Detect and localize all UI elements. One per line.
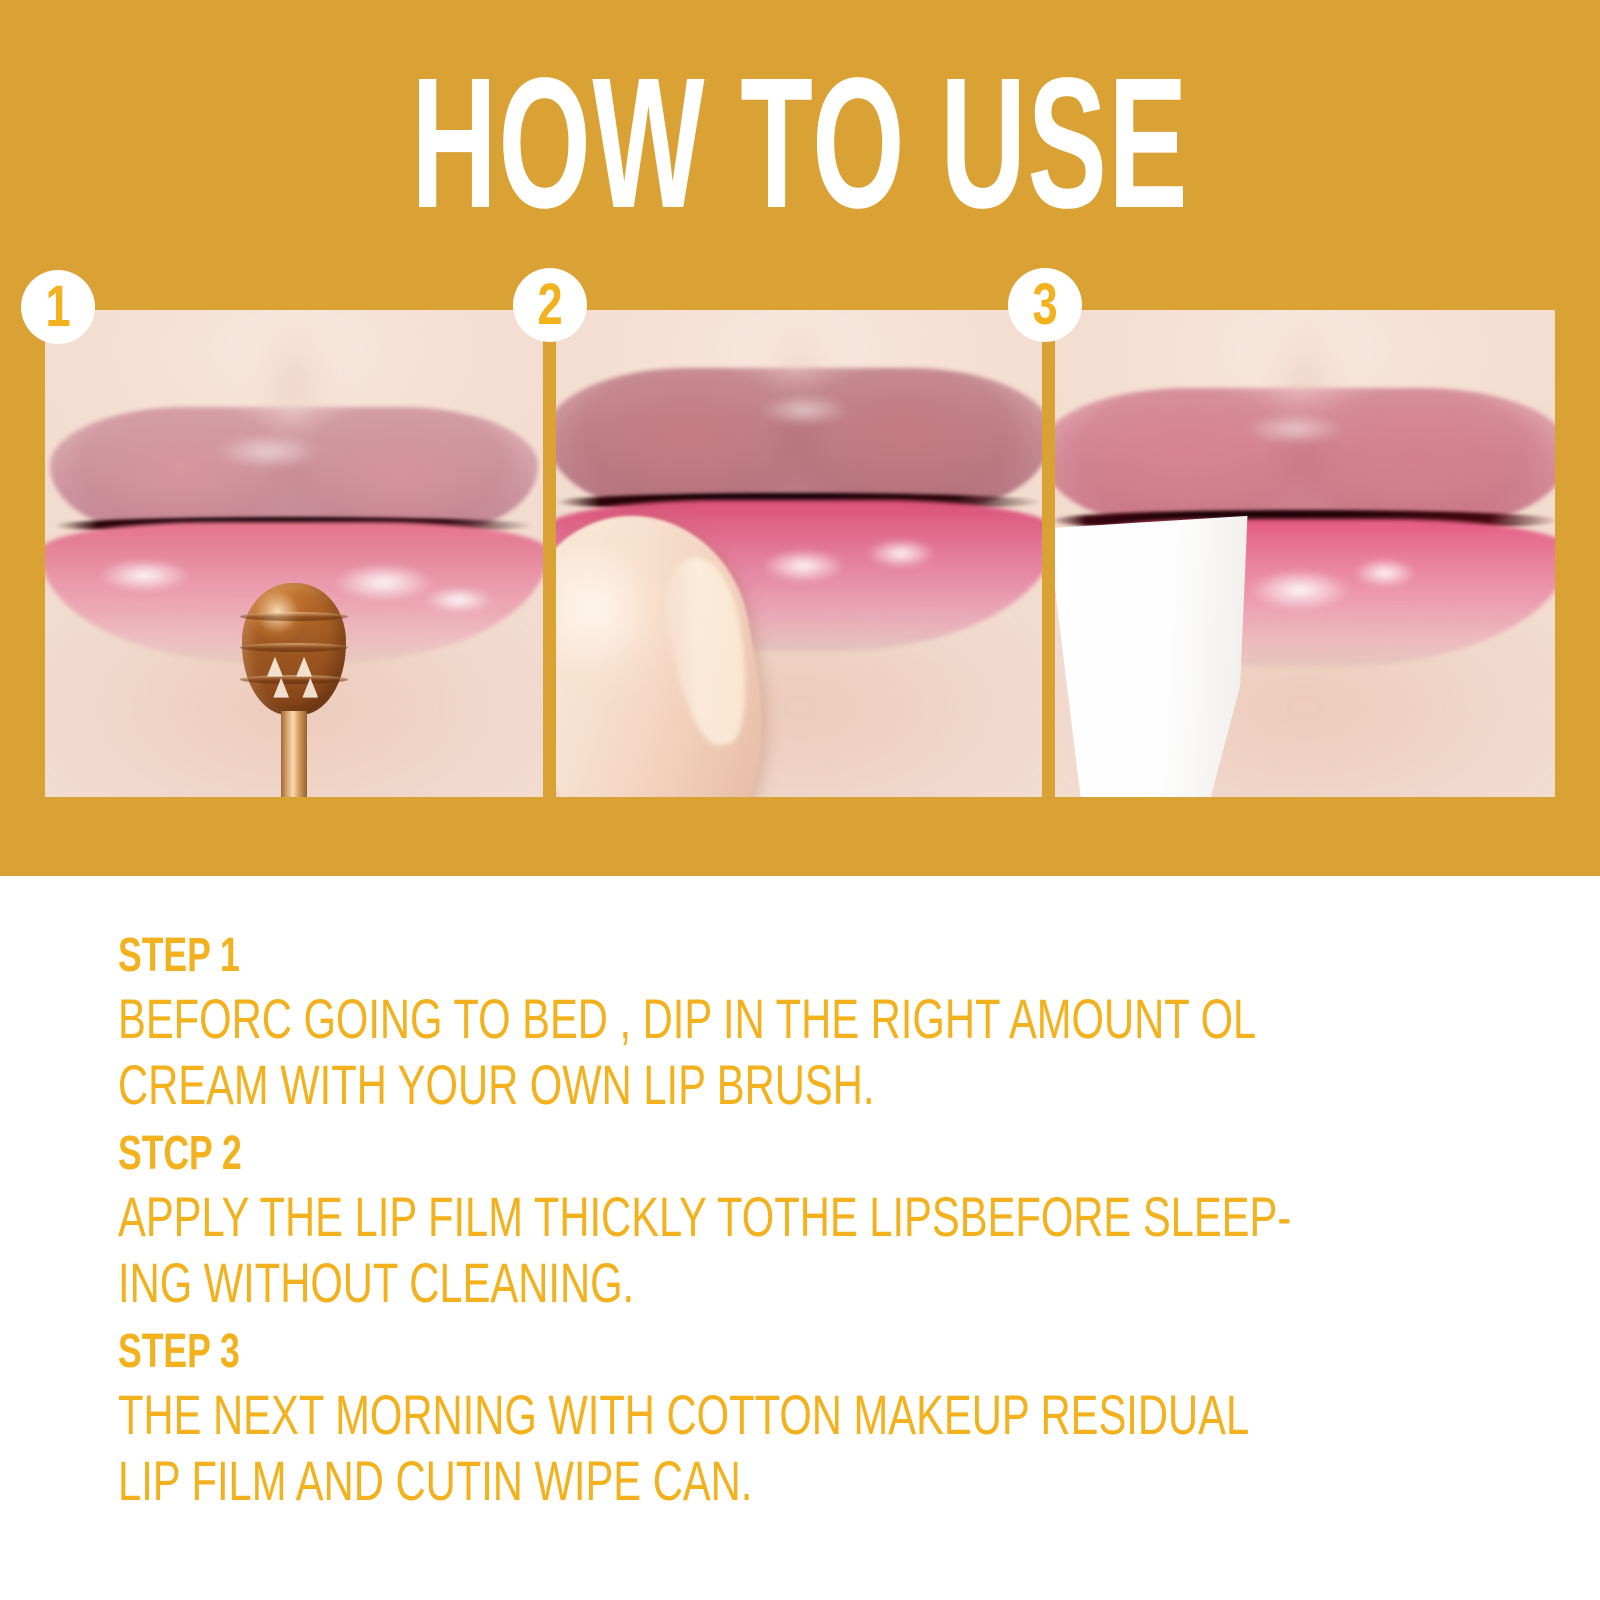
step-badge-3: 3: [1008, 268, 1082, 342]
step-badge-1: 1: [21, 270, 95, 344]
step-photo-2: [556, 310, 1042, 797]
step-3-label: STEP 3: [118, 1322, 1154, 1382]
step-photo-3: [1055, 310, 1555, 797]
wand-ring: [240, 612, 348, 621]
step-2-body: APPLY THE LIP FILM THICKLY TOTHE LIPSBEF…: [118, 1184, 1516, 1316]
lip-applicator-wand: [242, 583, 346, 715]
step-3-line-2: LIP FILM AND CUTIN WIPE CAN.: [118, 1448, 1516, 1514]
wand-notch: [267, 657, 283, 677]
step-badge-3-label: 3: [1032, 276, 1057, 334]
wand-head-icon: [242, 583, 346, 715]
panel-divider: [543, 310, 556, 797]
step-1-body: BEFORC GOING TO BED , DIP IN THE RIGHT A…: [118, 986, 1516, 1118]
step-badge-2: 2: [513, 268, 587, 342]
step-2-line-2: ING WITHOUT CLEANING.: [118, 1250, 1516, 1316]
upper-lip-highlight: [194, 427, 343, 476]
step-block-1: STEP 1 BEFORC GOING TO BED , DIP IN THE …: [118, 926, 1518, 1118]
step-badge-1-label: 1: [45, 278, 70, 336]
step-3-line-1: THE NEXT MORNING WITH COTTON MAKEUP RESI…: [118, 1382, 1516, 1448]
step-block-3: STEP 3 THE NEXT MORNING WITH COTTON MAKE…: [118, 1322, 1518, 1514]
steps-list: STEP 1 BEFORC GOING TO BED , DIP IN THE …: [118, 926, 1518, 1520]
step-block-2: STCP 2 APPLY THE LIP FILM THICKLY TOTHE …: [118, 1124, 1518, 1316]
wand-ring: [240, 675, 348, 684]
step-3-body: THE NEXT MORNING WITH COTTON MAKEUP RESI…: [118, 1382, 1516, 1514]
step-1-label: STEP 1: [118, 926, 1154, 986]
wand-notch: [296, 657, 312, 677]
step-1-line-1: BEFORC GOING TO BED , DIP IN THE RIGHT A…: [118, 986, 1516, 1052]
page-title: HOW TO USE: [288, 58, 1312, 230]
panel-divider: [1042, 310, 1055, 797]
step-2-label: STCP 2: [118, 1124, 1154, 1184]
wand-stem: [281, 711, 307, 797]
step-badge-2-label: 2: [537, 276, 562, 334]
step-1-line-2: CREAM WITH YOUR OWN LIP BRUSH.: [118, 1052, 1516, 1118]
upper-lip-highlight: [1225, 407, 1365, 451]
wand-ring: [240, 643, 348, 652]
photo-strip: [45, 310, 1556, 797]
step-2-line-1: APPLY THE LIP FILM THICKLY TOTHE LIPSBEF…: [118, 1184, 1516, 1250]
step-photo-1: [45, 310, 543, 797]
upper-lip-highlight: [741, 388, 867, 432]
